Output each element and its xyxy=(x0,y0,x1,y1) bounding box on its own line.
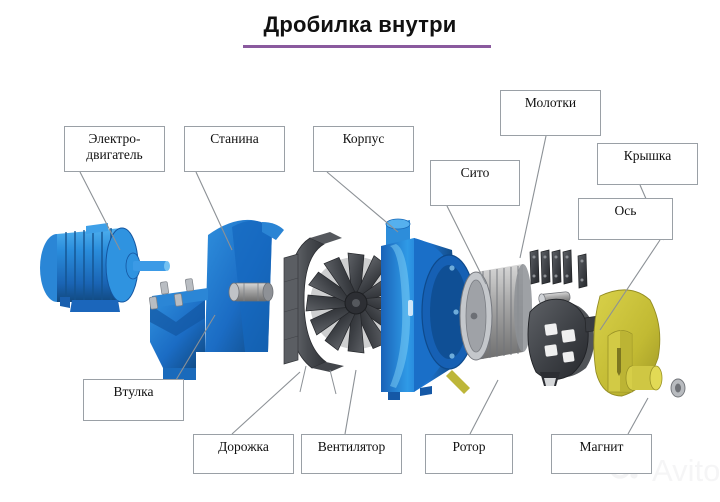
label-box-cover[interactable]: Крышка xyxy=(597,143,698,185)
label-text-rotor: Ротор xyxy=(453,439,486,455)
label-text2-electric-motor: двигатель xyxy=(86,147,142,163)
leader-hammers xyxy=(520,136,546,258)
label-box-bushing[interactable]: Втулка xyxy=(83,379,184,421)
leader-track xyxy=(232,372,300,434)
label-box-rotor[interactable]: Ротор xyxy=(425,434,513,474)
label-box-track[interactable]: Дорожка xyxy=(193,434,294,474)
leader-fan xyxy=(345,370,356,434)
label-box-hammers[interactable]: Молотки xyxy=(500,90,601,136)
label-text-fan: Вентилятор xyxy=(318,439,386,455)
leader-magnet xyxy=(628,398,648,434)
label-box-housing[interactable]: Корпус xyxy=(313,126,414,172)
label-box-sieve[interactable]: Сито xyxy=(430,160,520,206)
label-text-magnet: Магнит xyxy=(580,439,624,455)
leader-frame xyxy=(196,172,232,250)
leader-electric-motor xyxy=(80,172,120,250)
label-text-track: Дорожка xyxy=(218,439,269,455)
leader-housing xyxy=(327,172,398,232)
label-box-electric-motor[interactable]: Электро-двигатель xyxy=(64,126,165,172)
leader-rotor xyxy=(470,380,498,434)
label-box-fan[interactable]: Вентилятор xyxy=(301,434,402,474)
leader-axle xyxy=(600,240,660,330)
label-text-frame: Станина xyxy=(210,131,259,147)
label-box-frame[interactable]: Станина xyxy=(184,126,285,172)
label-text-sieve: Сито xyxy=(461,165,490,181)
label-text-axle: Ось xyxy=(615,203,637,219)
label-text-electric-motor: Электро-двигатель xyxy=(86,131,142,163)
diagram-page: Дробилка внутри xyxy=(0,0,720,502)
label-text-bushing: Втулка xyxy=(114,384,154,400)
leader-sieve xyxy=(447,206,486,284)
label-text-housing: Корпус xyxy=(343,131,385,147)
label-box-axle[interactable]: Ось xyxy=(578,198,673,240)
leader-lines xyxy=(0,0,720,502)
label-text-hammers: Молотки xyxy=(525,95,576,111)
label-text-cover: Крышка xyxy=(624,148,672,164)
label-box-magnet[interactable]: Магнит xyxy=(551,434,652,474)
